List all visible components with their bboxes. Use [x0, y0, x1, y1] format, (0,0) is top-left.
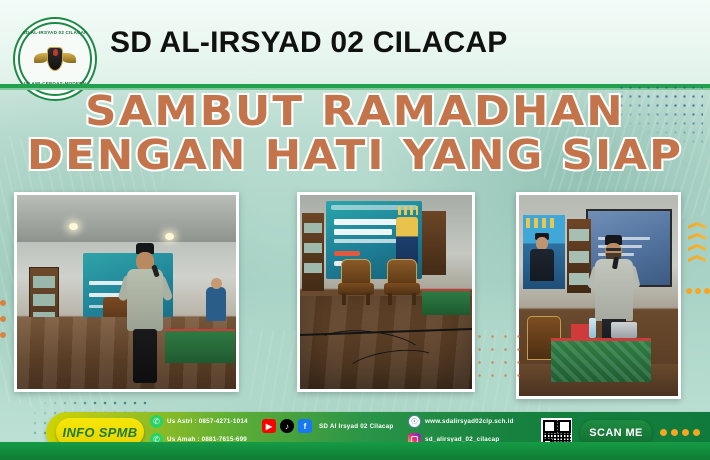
- headline-line-2: DENGAN HATI YANG SIAP: [0, 134, 710, 176]
- youtube-icon[interactable]: ▶: [262, 419, 276, 433]
- social-handle: SD Al Irsyad 02 Cilacap: [319, 423, 393, 430]
- orange-dot-grid-decoration: [473, 330, 525, 380]
- photo-speaker-projector: [516, 192, 681, 399]
- whatsapp-icon: ✆: [150, 415, 163, 428]
- footer-green-strip: [0, 442, 710, 460]
- photo-row: [0, 192, 710, 400]
- page-title: SD AL-IRSYAD 02 CILACAP: [110, 26, 507, 60]
- orange-dots-left: [0, 300, 12, 340]
- globe-icon: ☉: [408, 415, 421, 428]
- website-text: www.sdalirsyad02clp.sch.id: [425, 418, 514, 425]
- contact-row[interactable]: ✆ Us Astri : 0857-4271-1014: [150, 415, 270, 428]
- facebook-icon[interactable]: f: [298, 419, 312, 433]
- headline-block: SAMBUT RAMADHAN DENGAN HATI YANG SIAP: [0, 90, 710, 176]
- poster-canvas: SD AL-IRSYAD 02 CILACAP ISLAMI-CERDAS-MO…: [0, 0, 710, 460]
- orange-dots-right: [686, 288, 710, 296]
- seal-emblem-icon: [34, 46, 76, 72]
- seal-top-text: SD AL-IRSYAD 02 CILACAP: [20, 31, 90, 36]
- website-row[interactable]: ☉ www.sdalirsyad02clp.sch.id: [408, 415, 514, 428]
- photo-stage-banner-chairs: [297, 192, 475, 392]
- social-media-group: ▶ ♪ f SD Al Irsyad 02 Cilacap: [262, 419, 393, 433]
- photo-speaker-with-mic: [14, 192, 239, 392]
- headline-line-1: SAMBUT RAMADHAN: [0, 90, 710, 132]
- header-bar: SD AL-IRSYAD 02 CILACAP ISLAMI-CERDAS-MO…: [0, 0, 710, 84]
- tiktok-icon[interactable]: ♪: [280, 419, 294, 433]
- orange-dots-footer: [660, 429, 700, 436]
- contact-text: Us Astri : 0857-4271-1014: [167, 418, 248, 425]
- orange-chevron-decoration: [688, 222, 706, 278]
